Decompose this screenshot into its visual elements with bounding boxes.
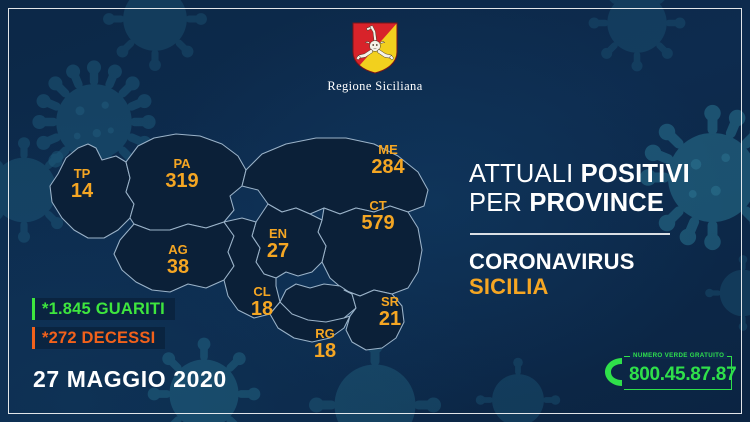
logo-caption: Regione Siciliana [0, 79, 750, 94]
stat-deaths: *272 DECESSI [32, 327, 165, 349]
province-label-rg-value: 18 [314, 340, 336, 362]
infographic-poster: Regione Siciliana [0, 0, 750, 422]
headline-line-2: PER PROVINCE [469, 189, 719, 218]
province-label-rg-code: RG [315, 326, 335, 341]
province-label-sr-code: SR [381, 294, 400, 309]
headline-attuali: ATTUALI [469, 160, 573, 188]
deaths-text: *272 DECESSI [42, 329, 155, 348]
province-label-tp-value: 14 [71, 180, 94, 202]
province-label-sr-value: 21 [379, 308, 401, 330]
stat-recovered: *1.845 GUARITI [32, 298, 175, 320]
province-label-ct-code: CT [369, 198, 386, 213]
recovered-text: *1.845 GUARITI [42, 300, 165, 319]
headline-block: ATTUALI POSITIVI PER PROVINCE CORONAVIRU… [469, 160, 719, 300]
province-label-pa-code: PA [173, 156, 191, 171]
headline-positivi: POSITIVI [581, 160, 690, 188]
report-date: 27 MAGGIO 2020 [33, 366, 227, 393]
stats-block: *1.845 GUARITI *272 DECESSI [32, 298, 175, 356]
province-label-ag-code: AG [168, 242, 188, 257]
trinacria-shield-icon [352, 22, 398, 74]
virus-icon [470, 352, 566, 422]
phone-label: NUMERO VERDE GRATUITO [630, 352, 727, 359]
province-label-pa-value: 319 [165, 170, 198, 192]
headline-per: PER [469, 189, 522, 217]
subtitle-coronavirus: CORONAVIRUS [469, 249, 719, 275]
province-label-cl-code: CL [253, 284, 270, 299]
province-label-en-code: EN [269, 226, 287, 241]
province-label-me-value: 284 [371, 156, 405, 178]
headline-line-1: ATTUALI POSITIVI [469, 160, 719, 189]
province-label-ag-value: 38 [167, 256, 189, 278]
telephone-icon [602, 356, 628, 388]
province-label-ct-value: 579 [361, 212, 394, 234]
province-label-me-code: ME [378, 142, 398, 157]
province-shape-rg[interactable] [270, 284, 356, 342]
phone-number[interactable]: 800.45.87.87 [629, 364, 736, 386]
province-label-en-value: 27 [267, 240, 289, 262]
headline-divider [470, 233, 670, 235]
toll-free-number-block[interactable]: NUMERO VERDE GRATUITO 800.45.87.87 [600, 352, 732, 392]
province-label-tp-code: TP [74, 166, 91, 181]
recovered-accent-bar [32, 298, 35, 320]
subtitle-sicilia: SICILIA [469, 274, 719, 300]
headline-province: PROVINCE [529, 189, 664, 217]
deaths-accent-bar [32, 327, 35, 349]
province-label-cl-value: 18 [251, 298, 273, 320]
regione-siciliana-logo: Regione Siciliana [0, 22, 750, 94]
